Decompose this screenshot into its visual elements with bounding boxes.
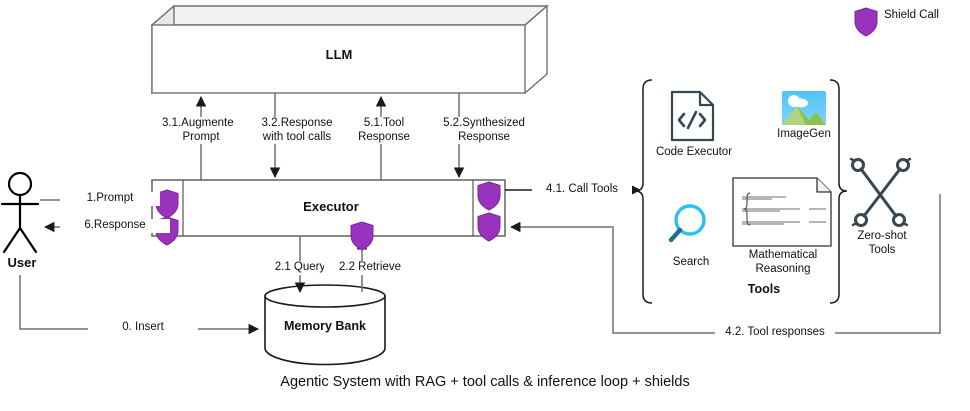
tools-left-brace bbox=[635, 80, 652, 303]
user-label: User bbox=[0, 256, 44, 270]
diagram-caption: Agentic System with RAG + tool calls & i… bbox=[0, 376, 970, 390]
tool-label-search: Search bbox=[660, 256, 722, 270]
tools-group-label: Tools bbox=[733, 283, 795, 297]
shield-memory[interactable] bbox=[351, 222, 373, 250]
tool-label-zero-shot-tools: Zero-shot Tools bbox=[841, 230, 923, 257]
diagram-canvas: LLM Executor Memory Bank User 1.Prompt 6… bbox=[0, 0, 970, 411]
shield-tools-in[interactable] bbox=[478, 213, 500, 241]
edge-label-insert: 0. Insert bbox=[88, 321, 198, 335]
memory-bank-label: Memory Bank bbox=[265, 320, 385, 334]
user-node[interactable] bbox=[2, 173, 38, 252]
diagram-vector-layer bbox=[0, 0, 970, 411]
edge-label-synthesized-response: 5.2.Synthesized Response bbox=[420, 117, 548, 144]
image-picture-icon[interactable] bbox=[782, 91, 826, 125]
math-formula-document-icon[interactable] bbox=[733, 178, 831, 246]
llm-label: LLM bbox=[275, 48, 403, 62]
legend-shield-label: Shield Call bbox=[884, 9, 964, 23]
code-file-icon[interactable] bbox=[672, 92, 713, 140]
crossed-wrenches-icon[interactable] bbox=[851, 159, 910, 226]
executor-label: Executor bbox=[276, 200, 386, 214]
edge-label-tool-responses: 4.2. Tool responses bbox=[715, 326, 835, 340]
tool-label-imagegen: ImageGen bbox=[764, 128, 844, 142]
edge-label-call-tools: 4.1. Call Tools bbox=[532, 183, 632, 197]
edge-tool-responses bbox=[511, 194, 940, 333]
tool-label-code-executor: Code Executor bbox=[645, 146, 743, 160]
shield-legend-icon bbox=[855, 8, 877, 36]
edge-label-retrieve: 2.2 Retrieve bbox=[324, 261, 416, 275]
edge-label-response: 6.Response bbox=[60, 219, 170, 233]
magnifier-icon[interactable] bbox=[671, 206, 704, 240]
tool-label-mathematical-reasoning: Mathematical Reasoning bbox=[733, 249, 833, 276]
edge-label-tool-response: 5.1.Tool Response bbox=[336, 117, 432, 144]
edge-label-prompt: 1.Prompt bbox=[60, 192, 160, 206]
